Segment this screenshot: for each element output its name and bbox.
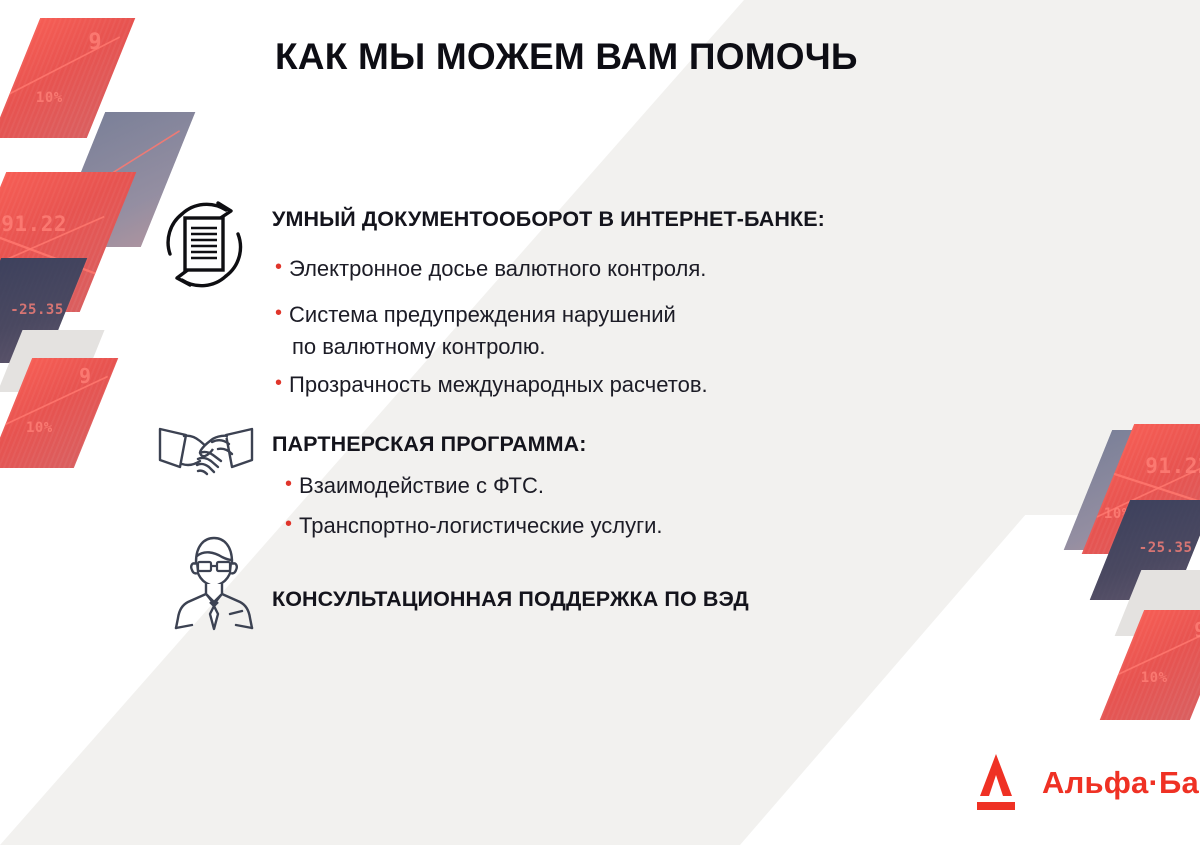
bullet-item: • Электронное досье валютного контроля. bbox=[275, 254, 706, 283]
alfa-logo-mark bbox=[968, 752, 1024, 814]
decoration-number: -25.35 bbox=[1139, 540, 1193, 556]
bullet-marker: • bbox=[275, 254, 282, 280]
decoration-number: 10% bbox=[1141, 670, 1168, 686]
bullet-text-continuation: по валютному контролю. bbox=[292, 332, 546, 361]
alfa-bank-logo: Альфа·Банк bbox=[968, 752, 1200, 814]
bullet-item: • Прозрачность международных расчетов. bbox=[275, 370, 708, 399]
bullet-item: • Транспортно-логистические услуги. bbox=[285, 511, 663, 540]
bullet-item: • Система предупреждения нарушений bbox=[275, 300, 676, 329]
handshake-icon bbox=[156, 418, 256, 480]
slide-canvas: 9 10% 91.22 25 -25.35 9 10% 91.22 10% -2… bbox=[0, 0, 1200, 845]
section-heading-partner-program: ПАРТНЕРСКАЯ ПРОГРАММА: bbox=[272, 432, 587, 457]
alfa-logo-wordmark: Альфа·Банк bbox=[1042, 765, 1200, 801]
decoration-number: 10% bbox=[26, 420, 53, 436]
bullet-marker: • bbox=[285, 511, 292, 537]
bullet-item: • Взаимодействие с ФТС. bbox=[285, 471, 544, 500]
bullet-text: Транспортно-логистические услуги. bbox=[299, 511, 662, 540]
section-heading-document-flow: УМНЫЙ ДОКУМЕНТООБОРОТ В ИНТЕРНЕТ-БАНКЕ: bbox=[272, 207, 825, 232]
bullet-marker: • bbox=[285, 471, 292, 497]
decoration-number: 9 bbox=[79, 364, 92, 388]
bullet-text: Прозрачность международных расчетов. bbox=[289, 370, 708, 399]
page-title: КАК МЫ МОЖЕМ ВАМ ПОМОЧЬ bbox=[275, 36, 858, 78]
decoration-number: 91.22 bbox=[1145, 454, 1200, 478]
decoration-number: 9 bbox=[88, 30, 102, 55]
decoration-number: 9 bbox=[1194, 618, 1200, 642]
section-heading-consulting-support: КОНСУЛЬТАЦИОННАЯ ПОДДЕРЖКА ПО ВЭД bbox=[272, 587, 749, 612]
bullet-text: Взаимодействие с ФТС. bbox=[299, 471, 544, 500]
document-cycle-icon bbox=[152, 192, 256, 296]
decoration-number: 91.22 bbox=[1, 212, 67, 236]
decoration-number: -25.35 bbox=[10, 302, 64, 318]
bullet-marker: • bbox=[275, 300, 282, 326]
bullet-text: Система предупреждения нарушений bbox=[289, 300, 676, 329]
decoration-number: 10% bbox=[36, 90, 63, 106]
bullet-marker: • bbox=[275, 370, 282, 396]
consultant-person-icon bbox=[166, 528, 262, 632]
bullet-text: Электронное досье валютного контроля. bbox=[289, 254, 706, 283]
